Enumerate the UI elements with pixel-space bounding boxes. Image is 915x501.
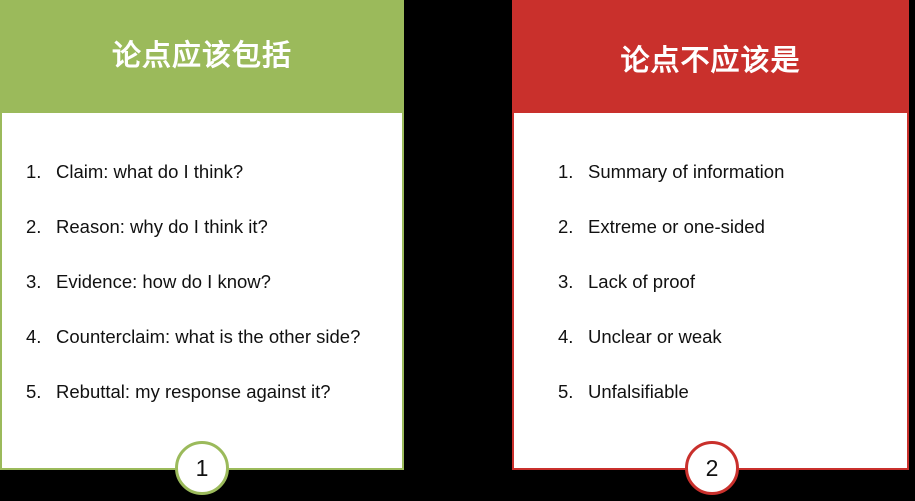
panel-badge-should-include: 1 [175,441,229,495]
list-item: 2. Extreme or one-sided [514,216,907,271]
list-item-number: 4. [26,326,56,348]
panel-should-not-be: 论点不应该是 1. Summary of information 2. Extr… [512,0,909,470]
list-item-label: Evidence: how do I know? [56,271,271,293]
list-item-number: 1. [558,161,588,183]
list-item: 3. Evidence: how do I know? [2,271,402,326]
list-item: 5. Unfalsifiable [514,381,907,436]
panel-header-should-include: 论点应该包括 [0,0,404,114]
panel-body-should-not-be: 1. Summary of information 2. Extreme or … [512,113,909,470]
list-item-label: Extreme or one-sided [588,216,765,238]
list-item: 5. Rebuttal: my response against it? [2,381,402,436]
list-item-label: Counterclaim: what is the other side? [56,326,360,348]
list-item-label: Unclear or weak [588,326,722,348]
list-item: 4. Unclear or weak [514,326,907,381]
list-item-label: Reason: why do I think it? [56,216,268,238]
list-item-number: 5. [558,381,588,403]
list-item-number: 4. [558,326,588,348]
list-item-label: Summary of information [588,161,784,183]
list-item-number: 3. [558,271,588,293]
list-item-label: Claim: what do I think? [56,161,243,183]
panel-should-include: 论点应该包括 1. Claim: what do I think? 2. Rea… [0,0,404,470]
list-item: 4. Counterclaim: what is the other side? [2,326,402,381]
panel-body-should-include: 1. Claim: what do I think? 2. Reason: wh… [0,113,404,470]
list-item-number: 3. [26,271,56,293]
list-item: 1. Claim: what do I think? [2,161,402,216]
list-item-number: 5. [26,381,56,403]
panel-header-should-not-be: 论点不应该是 [512,0,909,114]
slide-canvas: 论点应该包括 1. Claim: what do I think? 2. Rea… [0,0,915,501]
panel-title-should-include: 论点应该包括 [102,42,302,71]
item-list-should-include: 1. Claim: what do I think? 2. Reason: wh… [2,161,402,436]
list-item-label: Lack of proof [588,271,695,293]
list-item-label: Unfalsifiable [588,381,689,403]
list-item-number: 2. [558,216,588,238]
list-item-label: Rebuttal: my response against it? [56,381,331,403]
list-item: 2. Reason: why do I think it? [2,216,402,271]
list-item: 1. Summary of information [514,161,907,216]
list-item: 3. Lack of proof [514,271,907,326]
item-list-should-not-be: 1. Summary of information 2. Extreme or … [514,161,907,436]
panel-title-should-not-be: 论点不应该是 [610,47,810,76]
list-item-number: 2. [26,216,56,238]
panel-badge-should-not-be: 2 [685,441,739,495]
list-item-number: 1. [26,161,56,183]
